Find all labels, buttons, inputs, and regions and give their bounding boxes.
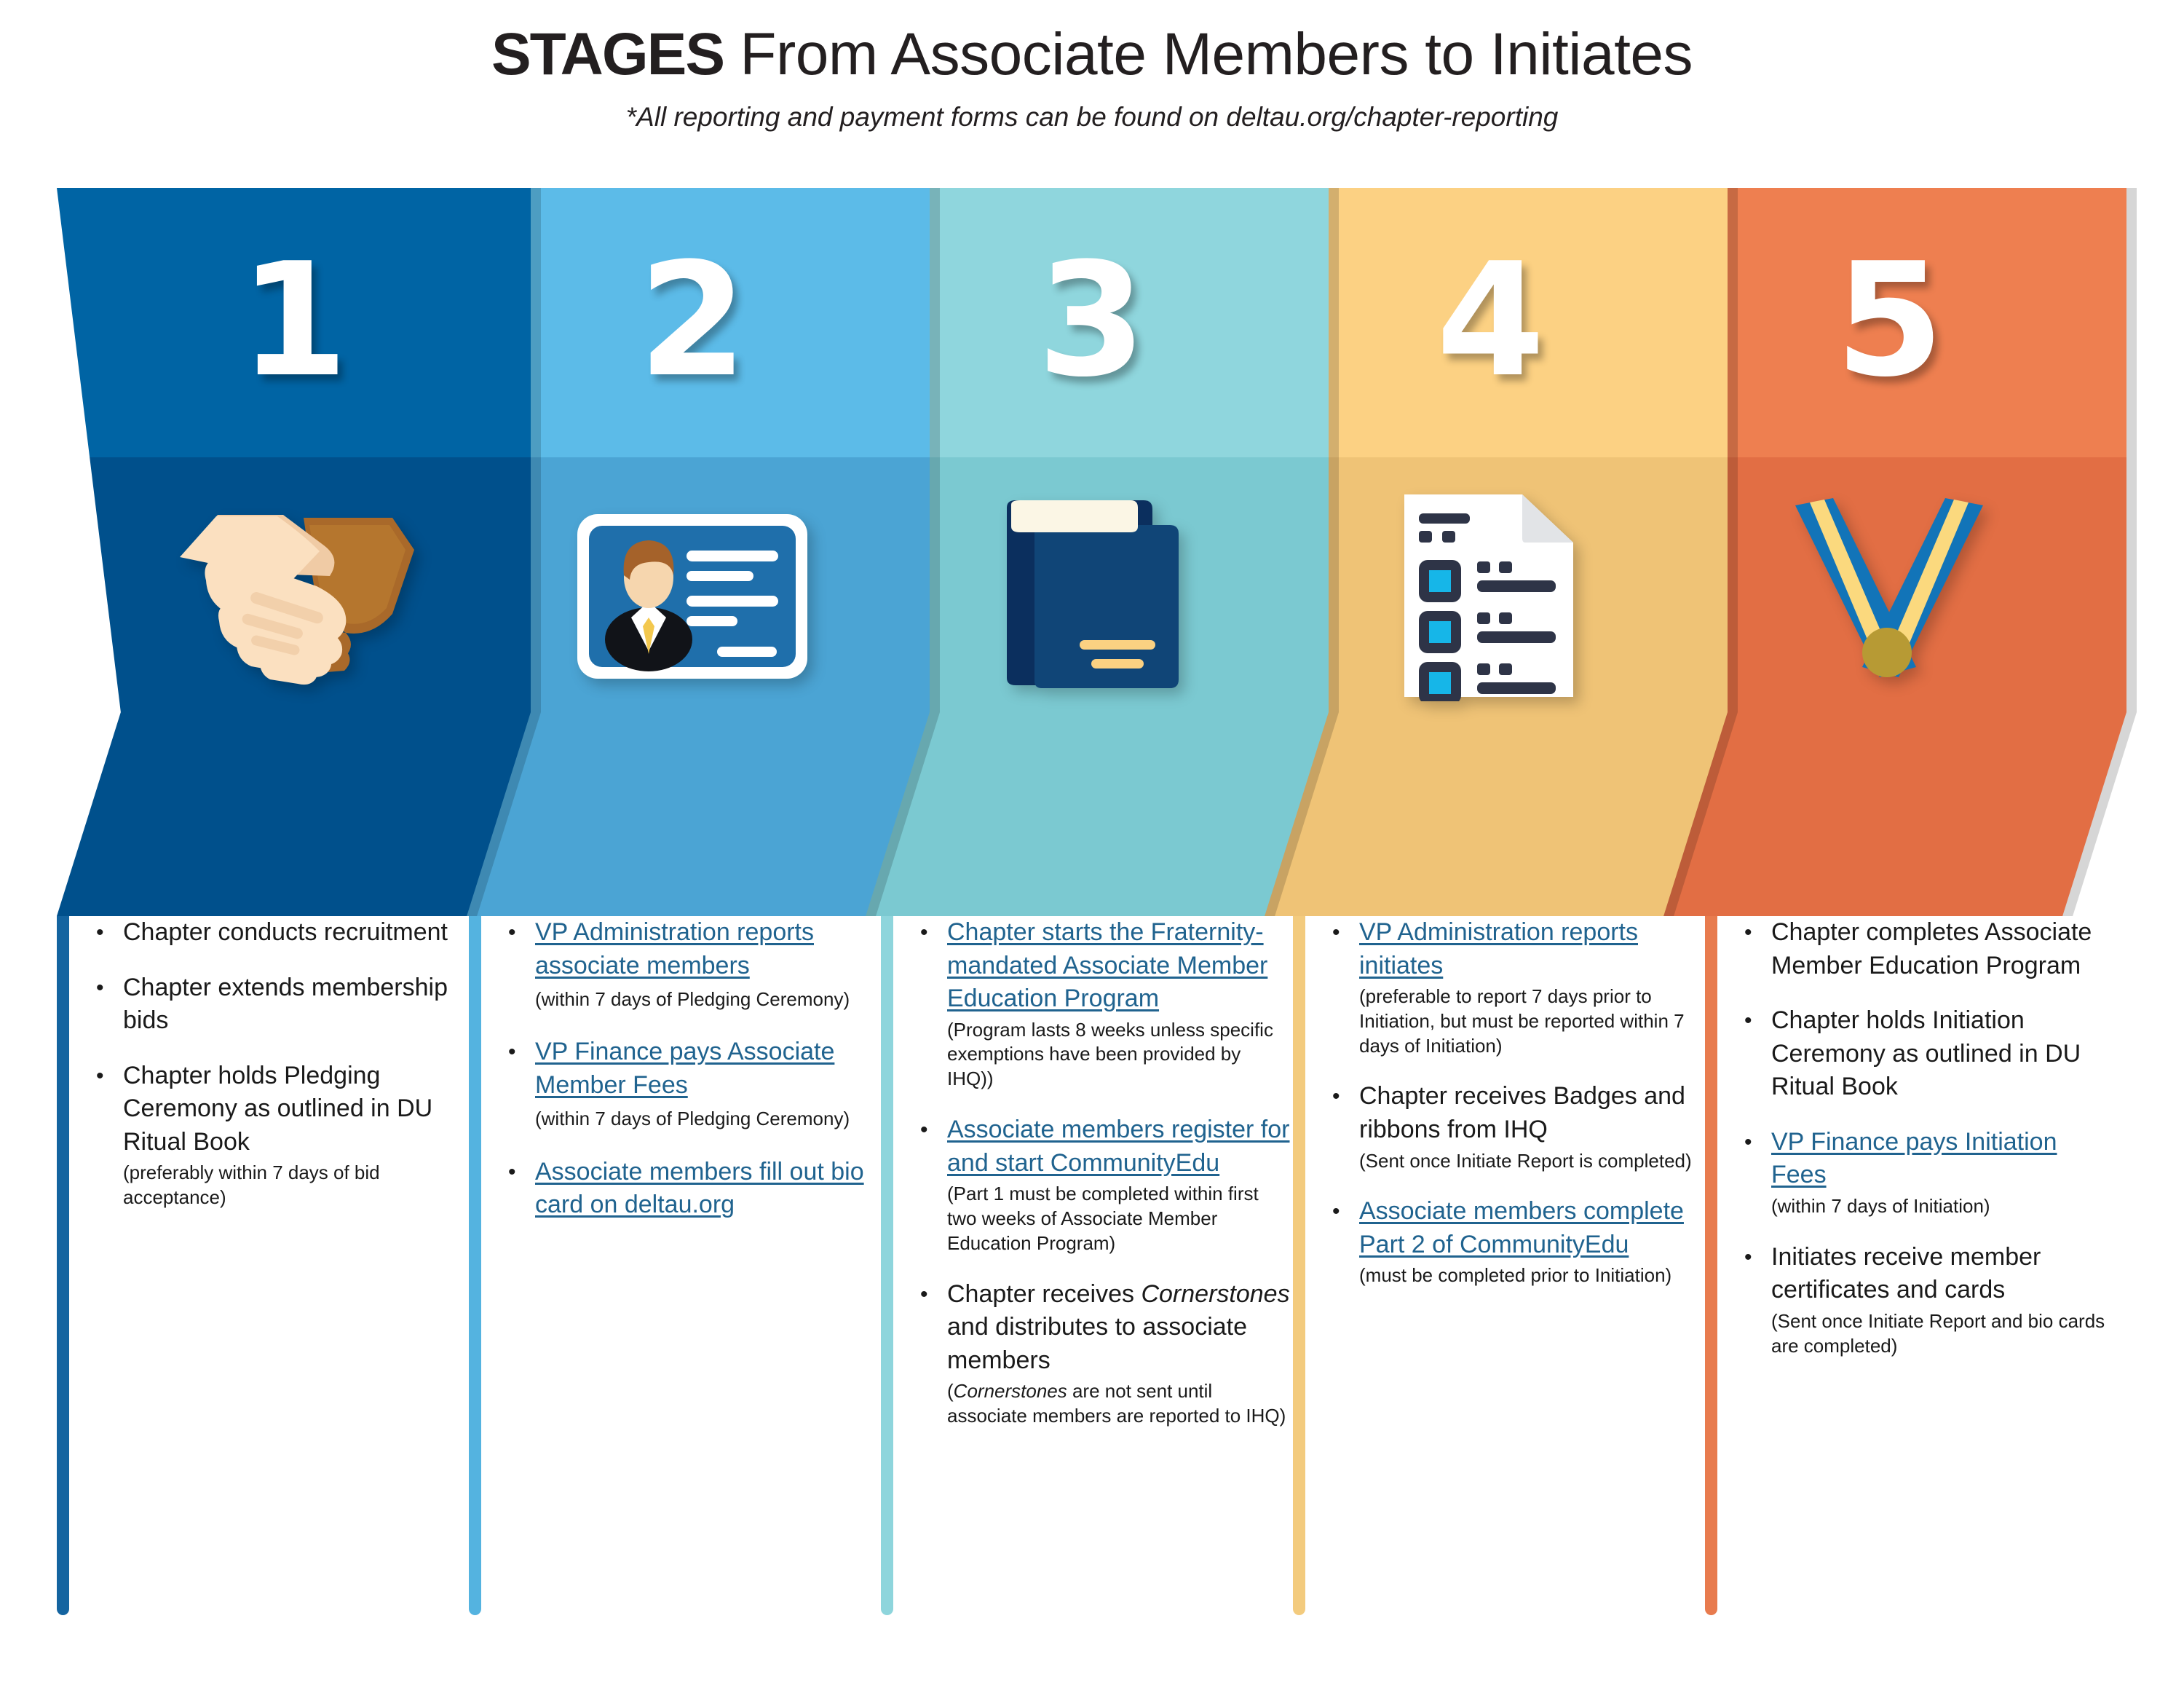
italic-term: Cornerstones xyxy=(954,1380,1067,1402)
list-item-spacer xyxy=(123,950,467,966)
task-text: Chapter completes Associate Member Educa… xyxy=(1771,916,2115,982)
task-text: Chapter receives Cornerstones and distri… xyxy=(947,1278,1291,1378)
page-subtitle: *All reporting and payment forms can be … xyxy=(0,102,2184,133)
task-text: Chapter holds Initiation Ceremony as out… xyxy=(1771,1004,2115,1104)
task-note: (within 7 days of Initiation) xyxy=(1771,1194,2115,1219)
stage-accent-bar xyxy=(881,916,893,1615)
list-item-spacer xyxy=(1359,1058,1703,1074)
task-text: Chapter extends membership bids xyxy=(123,971,467,1038)
task-text: Chapter receives Badges and ribbons from… xyxy=(1359,1080,1703,1146)
task-link[interactable]: Associate members complete Part 2 of Com… xyxy=(1359,1195,1703,1261)
stage-column-3: •Chapter starts the Fraternity-mandated … xyxy=(881,916,1296,1652)
bullet-icon: • xyxy=(1736,1004,1771,1120)
task-link[interactable]: VP Administration reports initiates xyxy=(1359,916,1703,982)
task-link[interactable]: VP Finance pays Initiation Fees xyxy=(1771,1126,2115,1192)
stage-task-list: •Chapter conducts recruitment•Chapter ex… xyxy=(88,916,467,1232)
list-item-spacer xyxy=(535,1014,879,1030)
list-item-body: Chapter holds Pledging Ceremony as outli… xyxy=(123,1060,467,1226)
bullet-icon: • xyxy=(912,916,947,1108)
bullet-icon: • xyxy=(500,916,535,1030)
list-item[interactable]: •VP Finance pays Associate Member Fees(w… xyxy=(500,1036,879,1149)
bullet-icon: • xyxy=(1736,1126,1771,1235)
bullet-icon: • xyxy=(1736,916,1771,998)
list-item-spacer xyxy=(1771,1358,2115,1374)
list-item[interactable]: •VP Administration reports associate mem… xyxy=(500,916,879,1030)
list-item-spacer xyxy=(1359,1288,1703,1304)
list-item-spacer xyxy=(1771,1104,2115,1120)
bullet-icon: • xyxy=(1736,1241,1771,1375)
list-item-spacer xyxy=(947,1429,1291,1445)
list-item-body: VP Administration reports associate memb… xyxy=(535,916,879,1030)
stage-chevron-1: 1 xyxy=(57,188,531,916)
bullet-icon: • xyxy=(88,1060,123,1226)
task-link[interactable]: VP Finance pays Associate Member Fees xyxy=(535,1036,879,1102)
task-note: (Cornerstones are not sent until associa… xyxy=(947,1379,1291,1429)
bullet-icon: • xyxy=(1324,916,1359,1074)
list-item-spacer xyxy=(123,1210,467,1226)
list-item-body: Chapter extends membership bids xyxy=(123,971,467,1054)
page-title-bold: STAGES xyxy=(491,21,724,87)
italic-term: Cornerstones xyxy=(1141,1280,1289,1308)
list-item: •Chapter holds Initiation Ceremony as ou… xyxy=(1736,1004,2115,1120)
stage-task-list: •Chapter completes Associate Member Educ… xyxy=(1736,916,2115,1380)
list-item-spacer xyxy=(535,1222,879,1238)
list-item: •Chapter conducts recruitment xyxy=(88,916,467,966)
stage-accent-bar xyxy=(469,916,481,1615)
task-note: (Program lasts 8 weeks unless specific e… xyxy=(947,1018,1291,1092)
list-item: •Chapter receives Cornerstones and distr… xyxy=(912,1278,1291,1445)
task-text: Chapter holds Pledging Ceremony as outli… xyxy=(123,1060,467,1159)
stage-task-list: •VP Administration reports associate mem… xyxy=(500,916,879,1244)
bullet-icon: • xyxy=(88,971,123,1054)
bullet-icon: • xyxy=(912,1113,947,1271)
list-item[interactable]: •VP Finance pays Initiation Fees (within… xyxy=(1736,1126,2115,1235)
list-item[interactable]: •Associate members complete Part 2 of Co… xyxy=(1324,1195,1703,1304)
list-item-spacer xyxy=(1359,1173,1703,1189)
list-item-body: Chapter conducts recruitment xyxy=(123,916,467,966)
page-header: STAGES From Associate Members to Initiat… xyxy=(0,0,2184,133)
list-item-spacer xyxy=(1771,982,2115,998)
list-item-body: Associate members complete Part 2 of Com… xyxy=(1359,1195,1703,1304)
task-text: Initiates receive member certificates an… xyxy=(1771,1241,2115,1307)
stage-column-4: •VP Administration reports initiates(pre… xyxy=(1293,916,1708,1652)
infographic-page: STAGES From Associate Members to Initiat… xyxy=(0,0,2184,1688)
handshake-icon xyxy=(57,476,531,716)
list-item-spacer xyxy=(1771,1219,2115,1235)
stage-detail-columns: •Chapter conducts recruitment•Chapter ex… xyxy=(57,916,2127,1652)
list-item[interactable]: •Associate members register for and star… xyxy=(912,1113,1291,1271)
stage-number-1: 1 xyxy=(57,242,531,398)
task-note: (preferable to report 7 days prior to In… xyxy=(1359,985,1703,1058)
stage-accent-bar xyxy=(1293,916,1305,1615)
task-note: (must be completed prior to Initiation) xyxy=(1359,1263,1703,1288)
list-item: •Chapter receives Badges and ribbons fro… xyxy=(1324,1080,1703,1189)
stage-task-list: •VP Administration reports initiates(pre… xyxy=(1324,916,1703,1310)
task-note: (within 7 days of Pledging Ceremony) xyxy=(535,1104,879,1133)
stage-accent-bar xyxy=(1705,916,1717,1615)
task-note: (Sent once Initiate Report and bio cards… xyxy=(1771,1309,2115,1359)
list-item-body: Associate members register for and start… xyxy=(947,1113,1291,1271)
list-item-body: VP Finance pays Initiation Fees (within … xyxy=(1771,1126,2115,1235)
bullet-icon: • xyxy=(88,916,123,966)
stage-column-5: •Chapter completes Associate Member Educ… xyxy=(1705,916,2120,1652)
bullet-icon: • xyxy=(912,1278,947,1445)
list-item-body: Associate members fill out bio card on d… xyxy=(535,1156,879,1238)
stage-column-1: •Chapter conducts recruitment•Chapter ex… xyxy=(57,916,472,1652)
task-note: (within 7 days of Pledging Ceremony) xyxy=(535,985,879,1014)
bullet-icon: • xyxy=(1324,1080,1359,1189)
task-note: (preferably within 7 days of bid accepta… xyxy=(123,1161,467,1210)
task-note: (Part 1 must be completed within first t… xyxy=(947,1182,1291,1255)
stage-accent-bar xyxy=(57,916,69,1615)
task-note: (Sent once Initiate Report is completed) xyxy=(1359,1149,1703,1174)
stage-banner: 1 2 xyxy=(57,188,2127,916)
bullet-icon: • xyxy=(500,1156,535,1238)
task-link[interactable]: Associate members register for and start… xyxy=(947,1113,1291,1180)
list-item-spacer xyxy=(947,1256,1291,1272)
list-item-body: Chapter receives Badges and ribbons from… xyxy=(1359,1080,1703,1189)
list-item: •Chapter completes Associate Member Educ… xyxy=(1736,916,2115,998)
list-item-spacer xyxy=(947,1092,1291,1108)
list-item-body: Initiates receive member certificates an… xyxy=(1771,1241,2115,1375)
task-link[interactable]: Associate members fill out bio card on d… xyxy=(535,1156,879,1222)
task-text: Chapter conducts recruitment xyxy=(123,916,467,950)
list-item[interactable]: •VP Administration reports initiates(pre… xyxy=(1324,916,1703,1074)
list-item-body: Chapter starts the Fraternity-mandated A… xyxy=(947,916,1291,1108)
list-item: •Initiates receive member certificates a… xyxy=(1736,1241,2115,1375)
list-item-body: Chapter receives Cornerstones and distri… xyxy=(947,1278,1291,1445)
stage-column-2: •VP Administration reports associate mem… xyxy=(469,916,884,1652)
list-item-body: Chapter holds Initiation Ceremony as out… xyxy=(1771,1004,2115,1120)
list-item-spacer xyxy=(535,1134,879,1150)
list-item-body: Chapter completes Associate Member Educa… xyxy=(1771,916,2115,998)
bullet-icon: • xyxy=(500,1036,535,1149)
list-item-body: VP Finance pays Associate Member Fees(wi… xyxy=(535,1036,879,1149)
list-item[interactable]: •Chapter starts the Fraternity-mandated … xyxy=(912,916,1291,1108)
page-title: STAGES From Associate Members to Initiat… xyxy=(0,25,2184,84)
list-item: •Chapter holds Pledging Ceremony as outl… xyxy=(88,1060,467,1226)
list-item-spacer xyxy=(123,1038,467,1054)
list-item: •Chapter extends membership bids xyxy=(88,971,467,1054)
task-link[interactable]: Chapter starts the Fraternity-mandated A… xyxy=(947,916,1291,1016)
bullet-icon: • xyxy=(1324,1195,1359,1304)
list-item[interactable]: •Associate members fill out bio card on … xyxy=(500,1156,879,1238)
stage-task-list: •Chapter starts the Fraternity-mandated … xyxy=(912,916,1291,1451)
list-item-body: VP Administration reports initiates(pref… xyxy=(1359,916,1703,1074)
task-link[interactable]: VP Administration reports associate memb… xyxy=(535,916,879,982)
page-title-rest: From Associate Members to Initiates xyxy=(724,21,1693,87)
